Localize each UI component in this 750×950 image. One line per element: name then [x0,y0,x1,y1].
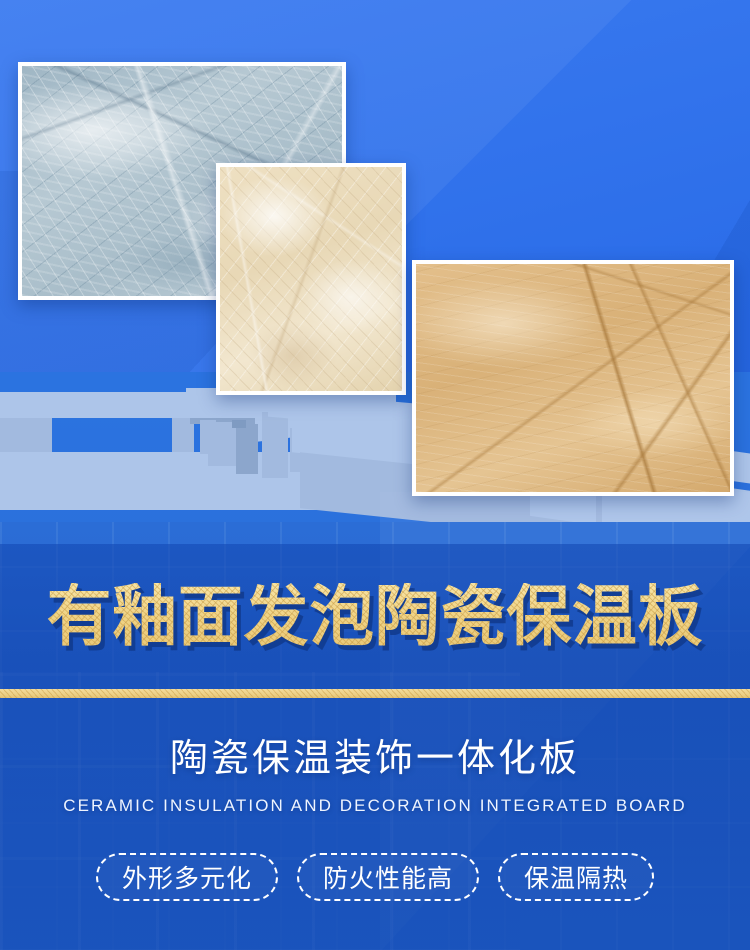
subtitle-chinese: 陶瓷保温装饰一体化板 [0,740,750,778]
feature-pill-3[interactable]: 保温隔热 [498,853,654,901]
product-banner: 有釉面发泡陶瓷保温板 陶瓷保温装饰一体化板 CERAMIC INSULATION… [0,0,750,950]
tile-veining [416,264,730,492]
tile-veining [220,167,402,391]
feature-pill-2[interactable]: 防火性能高 [297,853,479,901]
gold-divider [0,689,750,698]
tan-marble-tile [412,260,734,496]
feature-pill-1[interactable]: 外形多元化 [96,853,278,901]
headline: 有釉面发泡陶瓷保温板 [8,583,743,649]
feature-pill-list: 外形多元化 防火性能高 保温隔热 [0,853,750,901]
cream-marble-tile [216,163,406,395]
subtitle-english: CERAMIC INSULATION AND DECORATION INTEGR… [0,797,750,814]
